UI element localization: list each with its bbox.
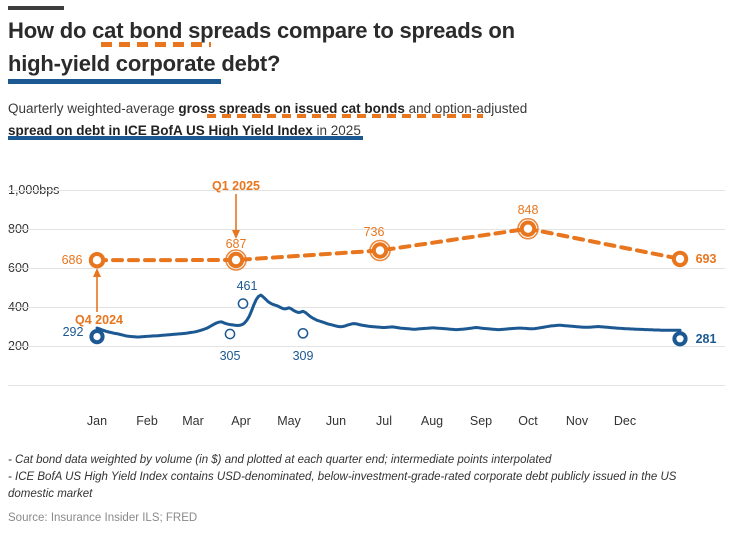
marker-305	[225, 329, 234, 338]
data-label-686: 686	[62, 253, 83, 267]
x-tick-apr: Apr	[231, 414, 250, 428]
page-title: How do cat bond spreads compare to sprea…	[8, 14, 708, 80]
x-tick-may: May	[277, 414, 301, 428]
subtitle-orange-dash-underline	[207, 114, 483, 118]
title-orange-dash-underline	[101, 42, 211, 47]
marker-309	[298, 329, 307, 338]
x-tick-jul: Jul	[376, 414, 392, 428]
x-tick-sep: Sep	[470, 414, 492, 428]
marker-292	[91, 331, 102, 342]
chart-source: Source: Insurance Insider ILS; FRED	[8, 512, 197, 524]
x-tick-aug: Aug	[421, 414, 443, 428]
marker-461	[238, 299, 247, 308]
marker-848	[522, 223, 534, 235]
x-tick-dec: Dec	[614, 414, 636, 428]
data-label-687: 687	[226, 237, 247, 251]
chart-note-1: - Cat bond data weighted by volume (in $…	[8, 452, 720, 469]
title-line-2: high-yield corporate debt?	[8, 47, 708, 80]
marker-736	[374, 244, 386, 256]
data-label-461: 461	[237, 279, 258, 293]
x-tick-jun: Jun	[326, 414, 346, 428]
data-label-736: 736	[364, 225, 385, 239]
subtitle-part-a: Quarterly weighted-average	[8, 101, 178, 116]
annotation-q1-2025: Q1 2025	[212, 179, 260, 193]
marker-687	[230, 254, 242, 266]
infographic-page: How do cat bond spreads compare to sprea…	[0, 0, 733, 537]
data-label-305: 305	[220, 349, 241, 363]
data-label-281: 281	[696, 332, 717, 346]
q4-2024-arrow-head	[93, 268, 101, 277]
marker-693	[674, 253, 686, 265]
high-yield-series-line	[97, 295, 680, 337]
marker-686	[91, 254, 103, 266]
x-tick-nov: Nov	[566, 414, 588, 428]
chart-notes: - Cat bond data weighted by volume (in $…	[8, 452, 720, 503]
data-label-309: 309	[293, 349, 314, 363]
x-tick-oct: Oct	[518, 414, 537, 428]
subtitle-blue-underline	[8, 136, 363, 140]
top-rule-decoration	[8, 6, 64, 10]
annotation-q4-2024: Q4 2024	[75, 313, 123, 327]
x-tick-jan: Jan	[87, 414, 107, 428]
title-blue-underline	[8, 79, 221, 84]
data-label-693: 693	[696, 252, 717, 266]
chart-svg	[0, 168, 733, 433]
marker-281	[674, 333, 685, 344]
x-tick-mar: Mar	[182, 414, 204, 428]
chart-note-2: - ICE BofA US High Yield Index contains …	[8, 469, 720, 503]
chart-container: 1,000bps 800 600 400 200	[0, 168, 733, 433]
data-label-848: 848	[518, 203, 539, 217]
data-label-292: 292	[63, 325, 84, 339]
x-tick-feb: Feb	[136, 414, 158, 428]
